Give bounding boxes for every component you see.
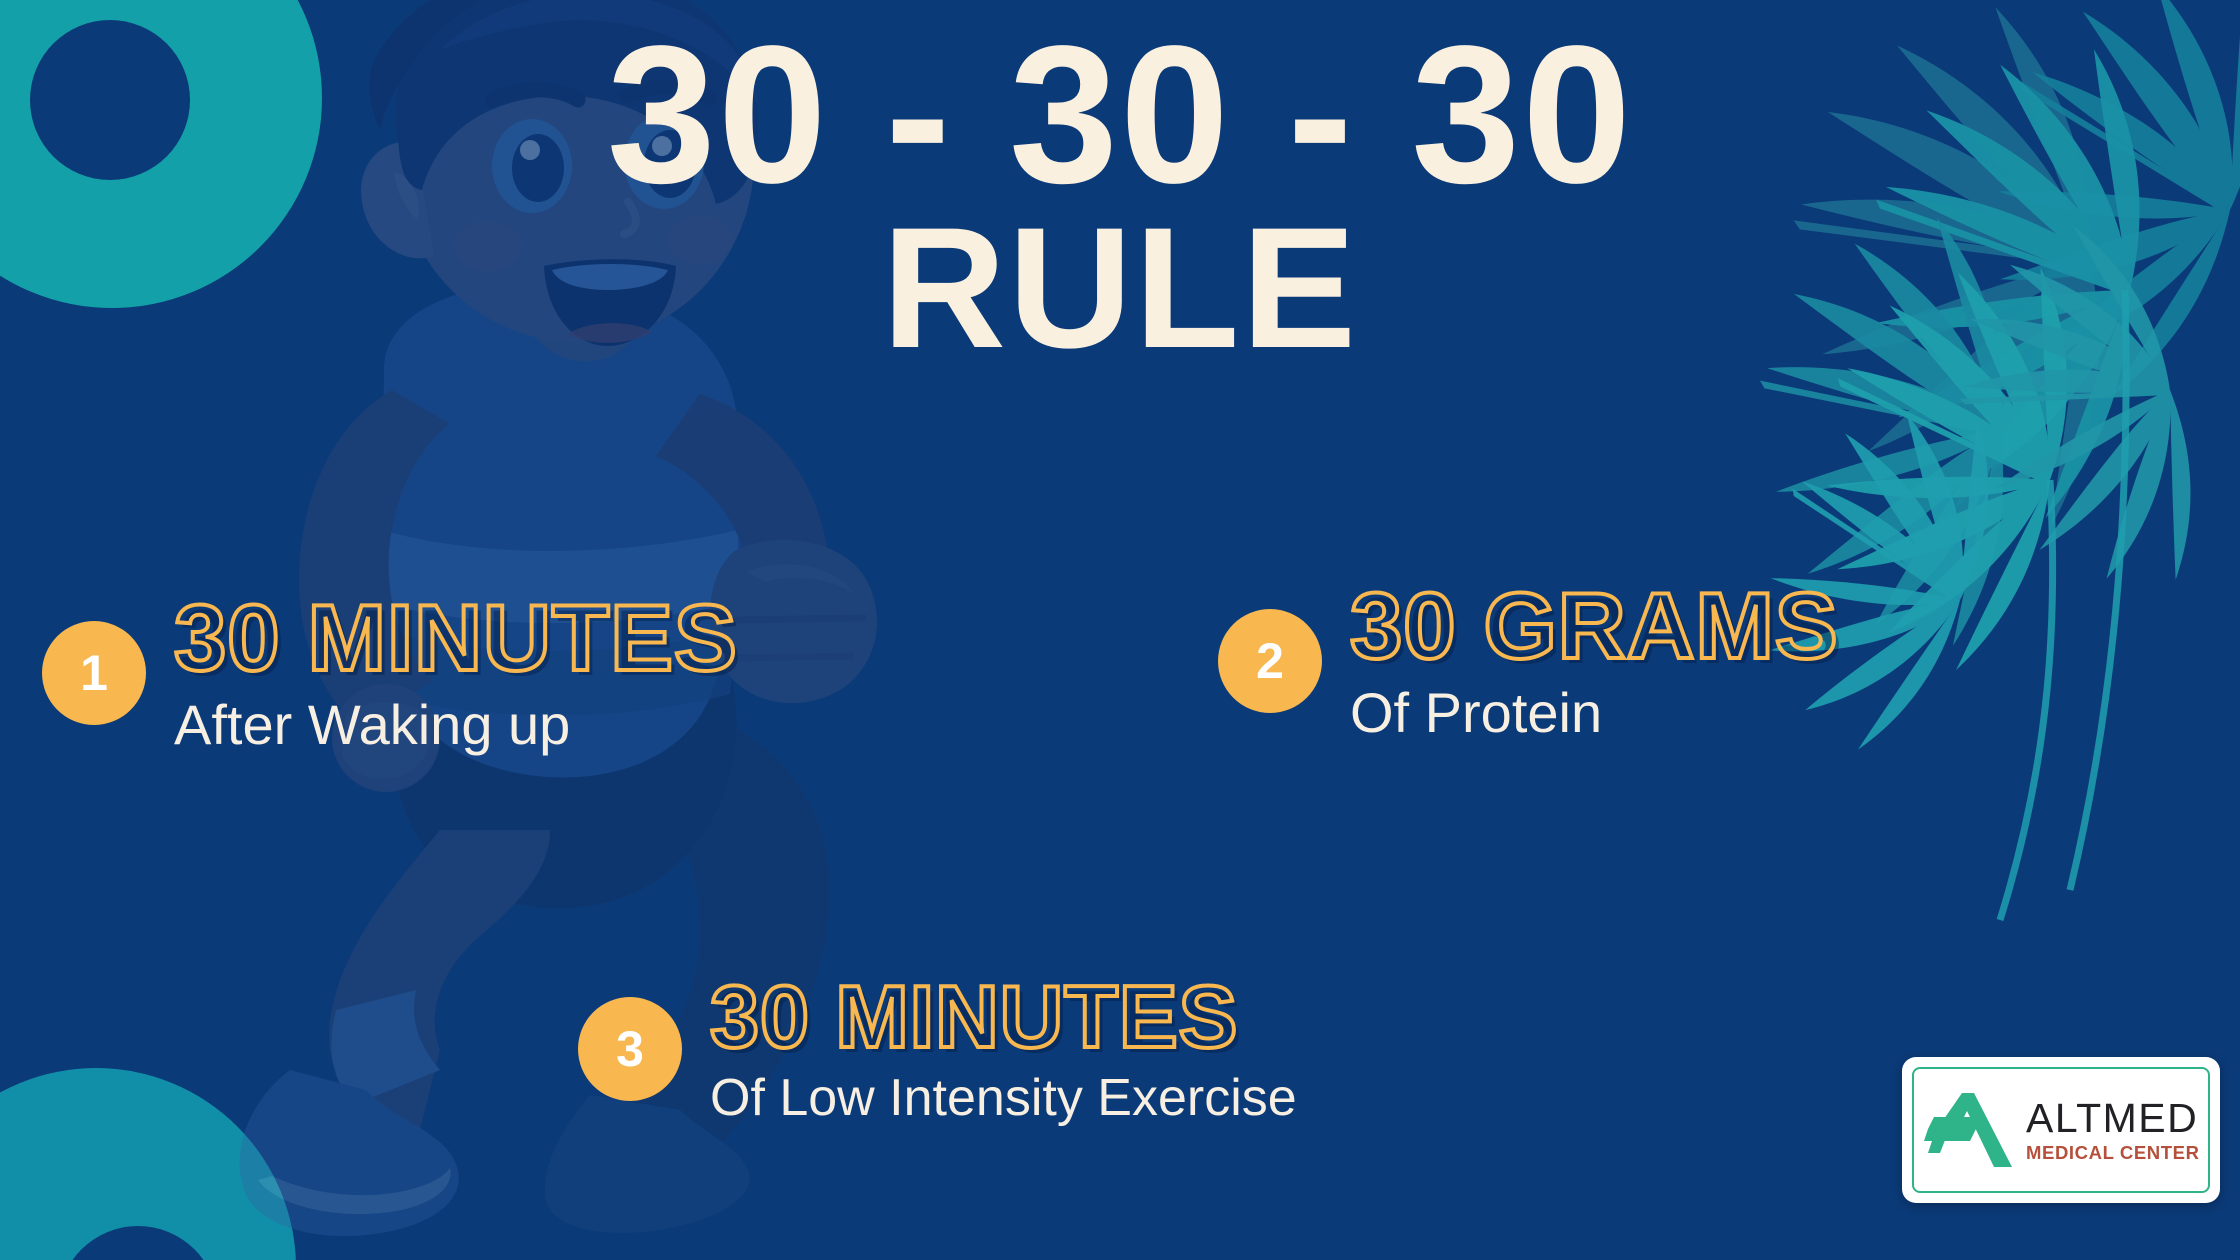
tip-3-text: 30 MINUTES Of Low Intensity Exercise: [710, 972, 1297, 1127]
tip-item-2: 2 30 GRAMS Of Protein: [1218, 578, 1839, 743]
logo-name: ALTMED: [2026, 1098, 2200, 1139]
tip-1-number-badge: 1: [42, 621, 146, 725]
tip-3-number-badge: 3: [578, 997, 682, 1101]
tip-3-heading: 30 MINUTES: [710, 972, 1297, 1062]
title-line-rule: RULE: [0, 202, 2240, 374]
altmed-logo-card: ALTMED MEDICAL CENTER: [1902, 1057, 2220, 1203]
tip-3-subtitle: Of Low Intensity Exercise: [710, 1070, 1297, 1127]
tip-2-number-badge: 2: [1218, 609, 1322, 713]
title-line-numbers: 30 - 30 - 30: [0, 22, 2240, 208]
tip-item-3: 3 30 MINUTES Of Low Intensity Exercise: [578, 972, 1297, 1127]
infographic-poster: 30 - 30 - 30 RULE 1 30 MINUTES After Wak…: [0, 0, 2240, 1260]
tip-1-text: 30 MINUTES After Waking up: [174, 590, 738, 755]
teal-donut-bottom-left-icon: [0, 1068, 296, 1260]
tip-item-1: 1 30 MINUTES After Waking up: [42, 590, 738, 755]
altmed-a-cross-icon: [1924, 1087, 2020, 1173]
poster-title: 30 - 30 - 30 RULE: [0, 22, 2240, 374]
tip-2-text: 30 GRAMS Of Protein: [1350, 578, 1839, 743]
tip-2-heading: 30 GRAMS: [1350, 578, 1839, 674]
logo-tagline: MEDICAL CENTER: [2026, 1144, 2200, 1163]
logo-wordmark: ALTMED MEDICAL CENTER: [2026, 1098, 2200, 1163]
tip-1-heading: 30 MINUTES: [174, 590, 738, 686]
logo-inner-frame: ALTMED MEDICAL CENTER: [1912, 1067, 2210, 1193]
tip-1-subtitle: After Waking up: [174, 694, 738, 756]
teal-donut-bottom-left-hole: [58, 1226, 218, 1260]
tip-2-subtitle: Of Protein: [1350, 682, 1839, 744]
